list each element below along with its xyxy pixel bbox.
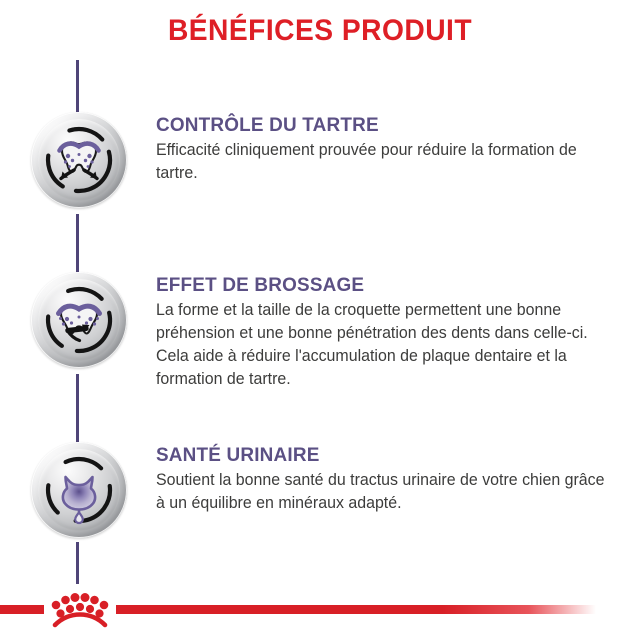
benefit-row: CONTRÔLE DU TARTRE Efficacité cliniqueme… (0, 112, 640, 208)
connector-line-segment (76, 60, 79, 116)
benefit-text-column: SANTÉ URINAIRE Soutient la bonne santé d… (156, 442, 640, 515)
benefit-text-column: EFFET DE BROSSAGE La forme et la taille … (156, 272, 640, 391)
bladder-urinary-health-icon (31, 442, 127, 538)
brand-bar-left (0, 605, 44, 614)
benefit-body: Efficacité cliniquement prouvée pour réd… (156, 139, 615, 185)
footer (0, 578, 640, 640)
benefit-text-column: CONTRÔLE DU TARTRE Efficacité cliniqueme… (156, 112, 640, 185)
royal-canin-crown-logo (47, 588, 113, 630)
benefit-icon-container (0, 112, 156, 208)
page-title: BÉNÉFICES PRODUIT (19, 14, 621, 48)
tooth-tartar-control-icon (31, 112, 127, 208)
tooth-brushing-effect-icon (31, 272, 127, 368)
connector-line-segment (76, 214, 79, 278)
benefit-heading: SANTÉ URINAIRE (156, 444, 608, 466)
benefit-row: SANTÉ URINAIRE Soutient la bonne santé d… (0, 442, 640, 538)
benefit-heading: EFFET DE BROSSAGE (156, 274, 608, 296)
benefit-body: Soutient la bonne santé du tractus urina… (156, 469, 615, 515)
benefit-icon-container (0, 272, 156, 368)
benefit-icon-container (0, 442, 156, 538)
benefit-body: La forme et la taille de la croquette pe… (156, 299, 615, 391)
benefit-row: EFFET DE BROSSAGE La forme et la taille … (0, 272, 640, 391)
benefit-heading: CONTRÔLE DU TARTRE (156, 114, 608, 136)
brand-bar-right (116, 605, 596, 614)
